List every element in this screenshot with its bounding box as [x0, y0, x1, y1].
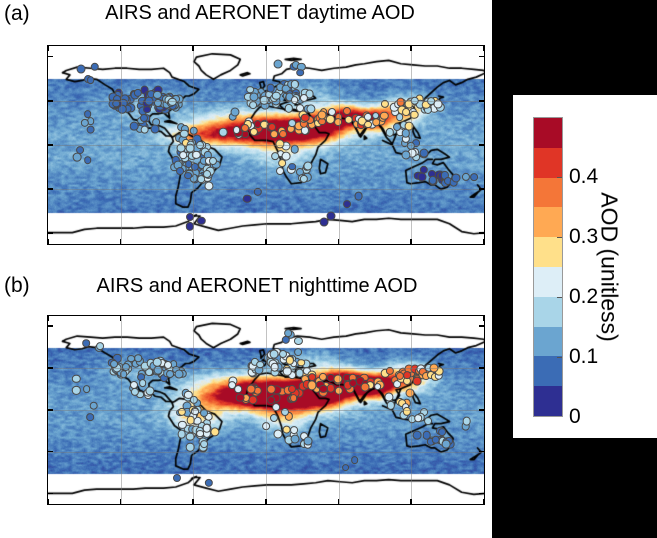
tickmark-longitude: [47, 239, 49, 244]
tickmark-latitude: [48, 56, 53, 58]
aeronet-site-marker: [205, 478, 213, 486]
colorbar-tick-label: 0: [569, 405, 581, 429]
tickmark-latitude: [479, 188, 484, 190]
tickmark-longitude: [265, 239, 267, 244]
aeronet-site-marker: [297, 359, 305, 367]
aeronet-site-marker: [246, 86, 254, 94]
colorbar-tick-label: 0.2: [569, 285, 598, 309]
tickmark-latitude: [48, 325, 53, 327]
panel-a-tag: (a): [4, 2, 30, 26]
aeronet-site-marker: [271, 363, 280, 372]
aeronet-site-marker: [290, 394, 298, 402]
aeronet-site-marker: [284, 329, 292, 337]
aeronet-site-marker: [351, 456, 359, 464]
aeronet-site-marker: [86, 413, 94, 421]
aeronet-site-marker: [134, 354, 142, 362]
aeronet-site-marker: [413, 431, 422, 440]
colorbar-panel: 0.40.30.20.10 AOD (unitless): [513, 95, 657, 438]
colorbar-band-6: [534, 207, 562, 237]
tickmark-latitude: [48, 451, 53, 453]
aeronet-site-marker: [301, 114, 310, 123]
tickmark-longitude: [120, 46, 122, 51]
colorbar-band-7: [534, 177, 562, 207]
aeronet-site-marker: [179, 151, 187, 159]
aeronet-site-marker: [387, 401, 395, 409]
panel-b-title: AIRS and AERONET nighttime AOD: [52, 275, 462, 298]
colorbar-tickmark: [557, 357, 562, 358]
tickmark-longitude: [338, 499, 340, 504]
aeronet-site-marker: [175, 370, 184, 379]
gridline-longitude: [121, 316, 122, 504]
map-b[interactable]: 80°N40°N0°40°S80°S180°120°W60°W0°60°E120…: [47, 315, 485, 505]
aeronet-site-marker: [145, 386, 154, 395]
aeronet-site-marker: [282, 152, 291, 161]
aeronet-site-marker: [319, 217, 328, 226]
aeronet-site-marker: [90, 63, 98, 71]
aeronet-site-marker: [180, 129, 188, 137]
aeronet-site-marker: [270, 349, 279, 358]
tickmark-latitude: [48, 232, 53, 234]
tickmark-latitude: [479, 451, 484, 453]
aeronet-site-marker: [304, 162, 313, 171]
aeronet-site-marker: [327, 212, 336, 221]
aeronet-site-marker: [267, 396, 275, 404]
aeronet-site-marker: [72, 386, 80, 394]
tickmark-longitude: [120, 499, 122, 504]
aeronet-site-marker: [403, 371, 411, 379]
gridline-longitude: [411, 316, 412, 504]
tickmark-longitude: [47, 316, 49, 321]
tickmark-longitude: [410, 46, 412, 51]
aeronet-site-marker: [342, 464, 350, 472]
aeronet-site-marker: [89, 401, 98, 410]
aeronet-site-marker: [300, 175, 308, 183]
aeronet-site-marker: [290, 426, 298, 434]
aeronet-site-marker: [241, 124, 249, 132]
colorbar-band-1: [534, 356, 562, 386]
aeronet-site-marker: [203, 170, 211, 178]
tickmark-latitude: [479, 493, 484, 495]
tickmark-longitude: [483, 499, 485, 504]
gridline-longitude: [193, 316, 194, 504]
tickmark-longitude: [265, 316, 267, 321]
aeronet-site-marker: [139, 379, 147, 387]
aeronet-site-marker: [271, 153, 279, 161]
aeronet-site-marker: [254, 120, 262, 128]
aeronet-site-marker: [134, 89, 142, 97]
colorbar-gradient: [533, 117, 563, 417]
aeronet-site-marker: [200, 440, 208, 448]
aeronet-site-marker: [270, 130, 278, 138]
aeronet-site-marker: [228, 381, 236, 389]
aeronet-site-marker: [270, 414, 278, 422]
aeronet-site-marker: [361, 383, 370, 392]
aeronet-site-marker: [140, 125, 149, 134]
colorbar-band-2: [534, 326, 562, 356]
aeronet-site-marker: [442, 440, 451, 449]
aeronet-site-marker: [402, 150, 411, 159]
aeronet-site-marker: [274, 60, 283, 69]
aeronet-site-marker: [72, 152, 81, 161]
aeronet-site-marker: [191, 408, 199, 416]
aeronet-site-marker: [294, 337, 302, 345]
tickmark-longitude: [192, 239, 194, 244]
gridline-longitude: [339, 316, 340, 504]
aeronet-site-marker: [233, 126, 241, 134]
tickmark-latitude: [479, 100, 484, 102]
aeronet-site-marker: [291, 434, 300, 443]
gridline-longitude: [339, 46, 340, 244]
aeronet-site-marker: [291, 96, 299, 104]
aeronet-site-marker: [86, 125, 95, 134]
aeronet-site-marker: [354, 192, 363, 201]
aeronet-site-marker: [438, 428, 446, 436]
tickmark-latitude: [479, 367, 484, 369]
tickmark-longitude: [338, 46, 340, 51]
colorbar-tick-label: 0.3: [569, 225, 598, 249]
tickmark-latitude: [48, 493, 53, 495]
gridline-longitude: [266, 316, 267, 504]
aeronet-site-marker: [285, 104, 293, 112]
aeronet-site-marker: [282, 425, 291, 434]
aeronet-site-marker: [343, 200, 351, 208]
aeronet-site-marker: [364, 121, 372, 129]
aeronet-site-marker: [184, 172, 192, 180]
aeronet-site-marker: [243, 195, 252, 204]
tickmark-longitude: [192, 316, 194, 321]
gridline-longitude: [266, 46, 267, 244]
tickmark-longitude: [120, 239, 122, 244]
aeronet-site-marker: [231, 108, 240, 117]
tickmark-latitude: [479, 144, 484, 146]
aeronet-site-marker: [197, 217, 205, 225]
aeronet-site-marker: [84, 156, 92, 164]
aeronet-site-marker: [249, 101, 257, 109]
aeronet-site-marker: [140, 114, 148, 122]
aeronet-site-marker: [96, 342, 104, 350]
aeronet-site-marker: [386, 128, 394, 136]
colorbar-band-3: [534, 296, 562, 326]
figure-root: (a) AIRS and AERONET daytime AOD 80°N40°…: [0, 0, 657, 538]
tickmark-latitude: [479, 325, 484, 327]
aeronet-site-marker: [83, 340, 91, 348]
aeronet-site-marker: [87, 76, 95, 84]
aeronet-site-marker: [405, 388, 414, 397]
aeronet-site-marker: [307, 104, 316, 113]
tickmark-latitude: [48, 367, 53, 369]
aeronet-site-marker: [247, 385, 256, 394]
aeronet-site-marker: [219, 128, 228, 137]
aeronet-site-marker: [130, 122, 139, 131]
aeronet-site-marker: [462, 417, 471, 426]
figure-canvas: (a) AIRS and AERONET daytime AOD 80°N40°…: [0, 0, 492, 538]
aeronet-site-marker: [236, 393, 245, 402]
aeronet-site-marker: [308, 373, 316, 381]
tickmark-longitude: [483, 46, 485, 51]
tickmark-longitude: [410, 239, 412, 244]
tickmark-longitude: [410, 499, 412, 504]
aeronet-site-marker: [274, 429, 283, 438]
colorbar-tick-label: 0.4: [569, 165, 598, 189]
gridline-longitude: [411, 46, 412, 244]
aeronet-site-marker: [288, 385, 296, 393]
aeronet-site-marker: [290, 145, 299, 154]
tickmark-longitude: [410, 316, 412, 321]
tickmark-longitude: [265, 46, 267, 51]
tickmark-longitude: [192, 46, 194, 51]
colorbar-tickmark: [557, 177, 562, 178]
colorbar-band-4: [534, 267, 562, 297]
aeronet-site-marker: [128, 355, 136, 363]
aeronet-site-marker: [470, 173, 478, 181]
aeronet-site-marker: [385, 392, 394, 401]
aeronet-site-marker: [303, 437, 312, 446]
aeronet-site-marker: [374, 383, 382, 391]
tickmark-latitude: [479, 56, 484, 58]
panel-b: (b) AIRS and AERONET nighttime AOD 80°N4…: [0, 272, 492, 538]
tickmark-latitude: [48, 188, 53, 190]
aeronet-site-marker: [153, 358, 162, 367]
tickmark-longitude: [47, 499, 49, 504]
colorbar-axis-label: AOD (unitless): [596, 192, 623, 342]
aeronet-site-marker: [451, 173, 460, 182]
aeronet-site-marker: [462, 173, 470, 181]
tickmark-latitude: [48, 100, 53, 102]
aeronet-site-marker: [76, 65, 85, 74]
aeronet-site-marker: [210, 428, 219, 437]
aeronet-site-marker: [288, 163, 296, 171]
aeronet-site-marker: [417, 173, 426, 182]
aeronet-site-marker: [266, 83, 275, 92]
aeronet-site-marker: [344, 115, 353, 124]
aeronet-site-marker: [173, 474, 181, 482]
tickmark-longitude: [483, 316, 485, 321]
panel-b-tag: (b): [4, 274, 30, 298]
aeronet-site-marker: [343, 107, 351, 115]
aeronet-site-marker: [328, 108, 336, 116]
aeronet-site-marker: [424, 417, 432, 425]
colorbar-tickmark: [557, 237, 562, 238]
panel-a-title: AIRS and AERONET daytime AOD: [60, 2, 460, 25]
aeronet-site-marker: [143, 106, 151, 114]
colorbar-tick-label: 0.1: [569, 345, 598, 369]
aeronet-site-marker: [276, 167, 284, 175]
colorbar-band-5: [534, 237, 562, 267]
tickmark-latitude: [479, 232, 484, 234]
gridline-longitude: [121, 46, 122, 244]
aeronet-site-marker: [110, 360, 118, 368]
panel-a: (a) AIRS and AERONET daytime AOD 80°N40°…: [0, 0, 492, 268]
aeronet-site-marker: [279, 130, 287, 138]
aeronet-site-marker: [349, 380, 357, 388]
aeronet-site-marker: [419, 148, 428, 157]
aeronet-site-marker: [248, 396, 257, 405]
tickmark-latitude: [48, 409, 53, 411]
gridline-longitude: [193, 46, 194, 244]
aeronet-site-marker: [380, 112, 388, 120]
aeronet-site-marker: [288, 119, 296, 127]
aeronet-site-marker: [209, 157, 217, 165]
colorbar-tickmark: [557, 297, 562, 298]
tickmark-longitude: [120, 316, 122, 321]
tickmark-longitude: [192, 499, 194, 504]
tickmark-latitude: [48, 144, 53, 146]
aeronet-site-marker: [166, 370, 174, 378]
aeronet-site-marker: [83, 385, 91, 393]
colorbar-band-9: [534, 118, 562, 148]
tickmark-longitude: [483, 239, 485, 244]
aeronet-site-marker: [176, 167, 184, 175]
aeronet-site-marker: [151, 125, 160, 134]
map-a[interactable]: 80°N40°N0°40°S80°S180°120°W60°W0°60°E120…: [47, 45, 485, 245]
aeronet-site-marker: [414, 414, 422, 422]
tickmark-longitude: [265, 499, 267, 504]
tickmark-longitude: [338, 239, 340, 244]
colorbar-band-8: [534, 147, 562, 177]
aeronet-site-marker: [72, 375, 80, 383]
aeronet-site-marker: [296, 69, 304, 77]
tickmark-longitude: [47, 46, 49, 51]
aeronet-site-marker: [84, 110, 92, 118]
tickmark-latitude: [479, 409, 484, 411]
tickmark-longitude: [338, 316, 340, 321]
colorbar-band-0: [534, 386, 562, 416]
